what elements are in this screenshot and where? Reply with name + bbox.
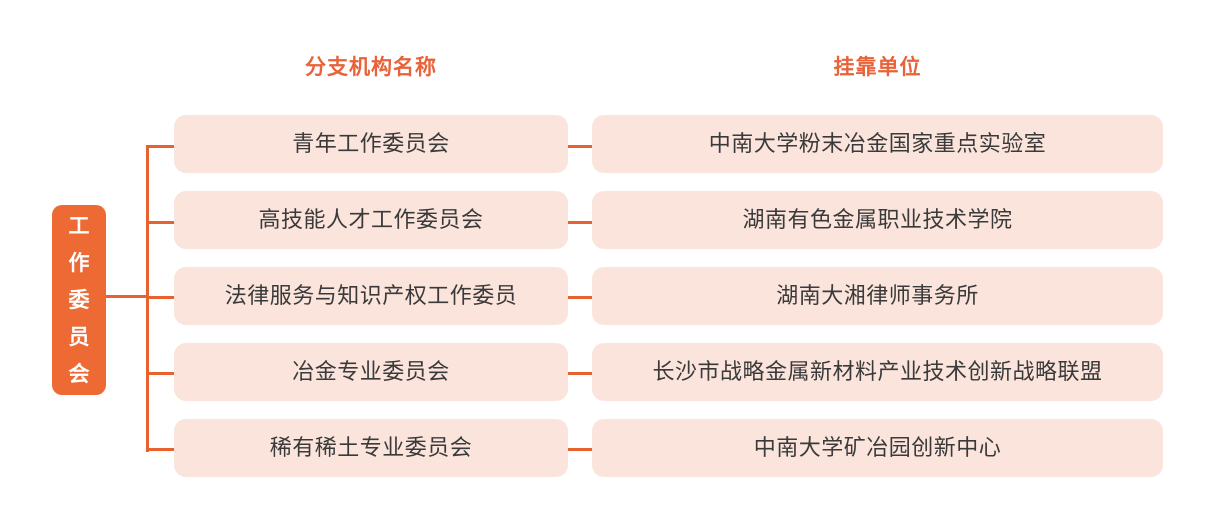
branch-node-1-label: 青年工作委员会 [292,133,450,155]
column-header-branch: 分支机构名称 [174,53,568,83]
connector-mid-1 [568,145,594,148]
connector-stub-left-5 [146,448,176,451]
branch-node-3-label: 法律服务与知识产权工作委员 [225,285,518,307]
connector-mid-3 [568,296,594,299]
host-node-3-label: 湖南大湘律师事务所 [776,285,979,307]
host-node-3: 湖南大湘律师事务所 [592,267,1163,325]
host-node-2-label: 湖南有色金属职业技术学院 [742,209,1012,231]
host-node-4: 长沙市战略金属新材料产业技术创新战略联盟 [592,343,1163,401]
root-node-work-committee: 工作委员会 [52,205,106,395]
branch-node-5: 稀有稀土专业委员会 [174,419,568,477]
connector-stub-left-3 [146,296,176,299]
connector-mid-2 [568,221,594,224]
connector-mid-5 [568,448,594,451]
branch-node-1: 青年工作委员会 [174,115,568,173]
host-node-2: 湖南有色金属职业技术学院 [592,191,1163,249]
branch-node-2-label: 高技能人才工作委员会 [258,209,483,231]
host-node-1-label: 中南大学粉末冶金国家重点实验室 [709,133,1047,155]
connector-root-to-spine [106,295,148,298]
host-node-4-label: 长沙市战略金属新材料产业技术创新战略联盟 [652,361,1102,383]
branch-node-4: 冶金专业委员会 [174,343,568,401]
org-chart-diagram: 分支机构名称 挂靠单位 工作委员会 青年工作委员会 高技能人才工作委员会 法律服… [0,0,1216,518]
connector-stub-left-1 [146,145,176,148]
branch-node-4-label: 冶金专业委员会 [292,361,450,383]
root-node-label: 工作委员会 [67,208,91,393]
host-node-1: 中南大学粉末冶金国家重点实验室 [592,115,1163,173]
host-node-5: 中南大学矿冶园创新中心 [592,419,1163,477]
connector-stub-left-2 [146,221,176,224]
branch-node-5-label: 稀有稀土专业委员会 [270,437,473,459]
host-node-5-label: 中南大学矿冶园创新中心 [754,437,1002,459]
column-header-host: 挂靠单位 [592,53,1163,83]
branch-node-3: 法律服务与知识产权工作委员 [174,267,568,325]
connector-stub-left-4 [146,372,176,375]
connector-mid-4 [568,372,594,375]
branch-node-2: 高技能人才工作委员会 [174,191,568,249]
